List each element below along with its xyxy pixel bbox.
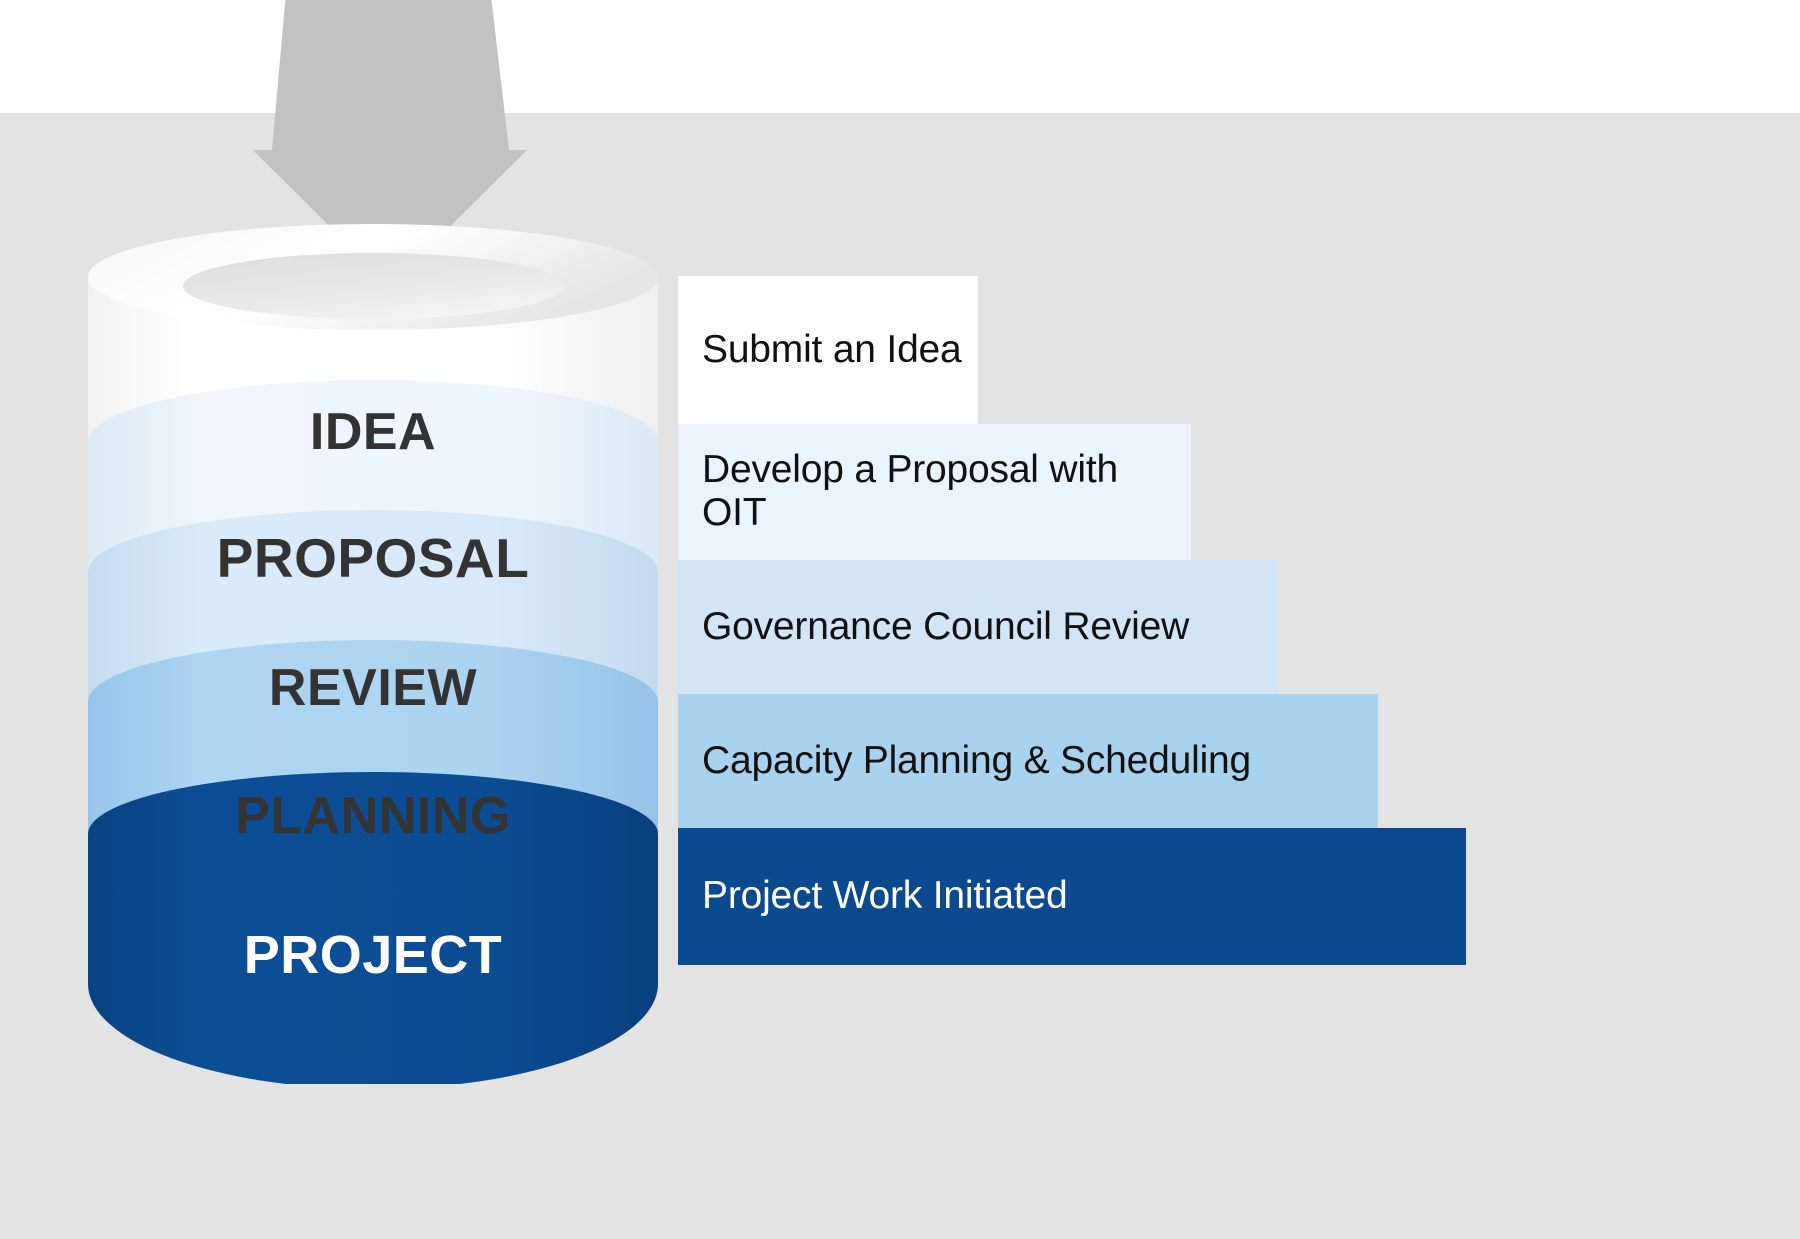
- step-label: Project Work Initiated: [702, 875, 1068, 918]
- step-project-work-initiated[interactable]: Project Work Initiated: [678, 828, 1466, 965]
- funnel-band-label-project: PROJECT: [88, 924, 658, 986]
- funnel-band-label-planning: PLANNING: [88, 786, 658, 846]
- step-governance-council-review[interactable]: Governance Council Review: [678, 560, 1278, 694]
- step-develop-a-proposal-with-oit[interactable]: Develop a Proposal with OIT: [678, 424, 1191, 560]
- step-label: Submit an Idea: [702, 329, 962, 372]
- funnel-band-label-proposal: PROPOSAL: [88, 526, 658, 590]
- funnel-cylinder: IDEA PROPOSAL REVIEW PLANNING PROJECT: [88, 224, 658, 1084]
- funnel-band-label-idea: IDEA: [88, 402, 658, 462]
- diagram-canvas: IDEA PROPOSAL REVIEW PLANNING PROJECT Su…: [0, 0, 1800, 1239]
- step-label: Governance Council Review: [702, 606, 1189, 649]
- funnel-band-label-review: REVIEW: [88, 658, 658, 718]
- step-label: Develop a Proposal with OIT: [702, 449, 1191, 535]
- step-capacity-planning-scheduling[interactable]: Capacity Planning & Scheduling: [678, 694, 1378, 828]
- step-label: Capacity Planning & Scheduling: [702, 740, 1251, 783]
- step-submit-an-idea[interactable]: Submit an Idea: [678, 276, 978, 424]
